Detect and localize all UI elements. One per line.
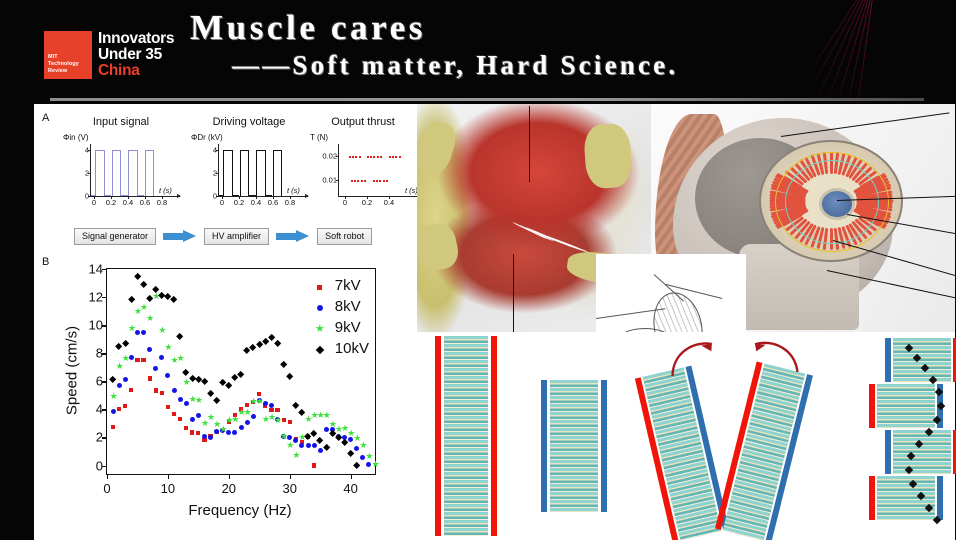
actuator-edge-blue — [541, 380, 547, 512]
chart-output-thrust-ylabel: T (N) — [310, 133, 328, 142]
scatter-datapoint: ★ — [256, 398, 263, 405]
soft-actuator-strip — [435, 336, 497, 536]
waveform-segment — [104, 150, 105, 196]
legend-item: 10kV — [309, 338, 369, 359]
scatter-ytick-label: 4 — [96, 402, 103, 417]
legend-marker-icon: ★ — [309, 319, 331, 337]
scatter-datapoint — [170, 295, 178, 303]
scatter-datapoint — [128, 295, 136, 303]
scatter-datapoint — [153, 366, 158, 371]
soft-actuator-diagrams — [417, 332, 955, 540]
soft-actuator-strip — [885, 430, 956, 474]
scatter-datapoint — [135, 358, 139, 362]
scatter-datapoint — [178, 397, 183, 402]
scatter-datapoint — [129, 388, 133, 392]
title-block: Muscle cares ——Soft matter, Hard Science… — [190, 8, 930, 83]
scatter-datapoint — [109, 376, 117, 384]
scatter-datapoint — [141, 330, 146, 335]
bone-shape — [417, 118, 460, 178]
soft-actuator-strip — [869, 476, 943, 520]
scatter-xtick-label: 30 — [282, 481, 296, 496]
chart-driving-voltage-title: Driving voltage — [190, 116, 308, 128]
actuator-edge-blue — [601, 380, 607, 512]
xtick-label: 0 — [92, 198, 96, 207]
ytick-label: 0 — [213, 192, 217, 201]
xtick-label: 0.2 — [106, 198, 116, 207]
thrust-datapoint — [364, 180, 366, 182]
logo-wordmark: Innovators Under 35 China — [92, 31, 174, 79]
waveform-segment — [248, 150, 249, 196]
thrust-datapoint — [395, 156, 397, 158]
waveform-segment — [223, 150, 224, 196]
waveform-segment — [240, 150, 249, 151]
soft-actuator-strip — [541, 380, 607, 512]
scatter-datapoint — [172, 388, 177, 393]
ytick-label: 0.02 — [322, 152, 337, 161]
scatter-ytick-label: 2 — [96, 430, 103, 445]
thrust-datapoint — [380, 156, 382, 158]
cross-section-fiber-ellipse — [759, 140, 903, 262]
waveform-segment — [120, 150, 121, 196]
thrust-datapoint — [399, 156, 401, 158]
ytick-label: 0 — [85, 192, 89, 201]
mit-technology-review-logo: MIT Technology Review Innovators Under 3… — [44, 31, 174, 79]
thrust-datapoint — [392, 156, 394, 158]
thrust-datapoint — [361, 180, 363, 182]
scatter-datapoint — [160, 391, 164, 395]
scatter-datapoint — [134, 273, 142, 281]
scatter-datapoint — [184, 426, 188, 430]
waveform-segment — [128, 150, 129, 196]
scatter-datapoint — [117, 407, 121, 411]
scatter-datapoint — [299, 443, 304, 448]
scatter-legend: 7kV8kV★9kV10kV — [309, 275, 369, 359]
scatter-datapoint: ★ — [116, 363, 123, 370]
scatter-datapoint — [196, 413, 201, 418]
actuator-core — [877, 476, 935, 520]
legend-item: 8kV — [309, 296, 369, 317]
chart-input-signal-xlabel: t (s) — [159, 186, 172, 195]
xtick-label: 0.8 — [285, 198, 295, 207]
logo-mark-line3: Review — [48, 68, 89, 75]
actuator-edge-blue — [885, 338, 891, 382]
scatter-xtick-label: 20 — [222, 481, 236, 496]
actuator-core — [893, 430, 951, 474]
scatter-datapoint — [166, 405, 170, 409]
scatter-datapoint — [347, 450, 355, 458]
chart-output-thrust: Output thrust T (N) 0.010.0200.20.4 t (s… — [304, 116, 422, 220]
scatter-datapoint — [159, 355, 164, 360]
scatter-datapoint: ★ — [158, 327, 165, 334]
waveform-segment — [145, 150, 154, 151]
waveform-segment — [128, 150, 137, 151]
waveform-segment — [153, 150, 154, 196]
thrust-datapoint — [370, 156, 372, 158]
flow-step-soft-robot[interactable]: Soft robot — [317, 228, 372, 245]
scatter-ytick-label: 6 — [96, 374, 103, 389]
scatter-plot-area: 7kV8kV★9kV10kV 02468101214010203040★★★★★… — [106, 268, 376, 475]
xtick-label: 0.6 — [140, 198, 150, 207]
waveform-segment — [219, 195, 223, 196]
scatter-datapoint — [306, 443, 311, 448]
scatter-datapoint — [140, 281, 148, 289]
scatter-datapoint — [232, 430, 237, 435]
muscle-fiber-line — [568, 245, 589, 253]
waveform-segment — [145, 150, 146, 196]
waveform-segment — [256, 150, 257, 196]
scatter-datapoint — [292, 402, 300, 410]
actuator-core — [444, 336, 488, 536]
logo-mark-line1: MIT — [48, 54, 89, 61]
scatter-datapoint: ★ — [128, 325, 135, 332]
flow-arrow-2-icon — [276, 231, 310, 242]
chart-driving-voltage-plot: 02400.20.40.60.8 — [218, 144, 295, 197]
thrust-datapoint — [352, 156, 354, 158]
waveform-segment — [112, 150, 121, 151]
scatter-datapoint: ★ — [274, 417, 281, 424]
scatter-datapoint: ★ — [323, 412, 330, 419]
waveform-segment — [120, 195, 128, 196]
soft-actuator-strip — [715, 362, 813, 540]
waveform-segment — [137, 195, 145, 196]
scatter-ytick-label: 10 — [89, 318, 103, 333]
scatter-datapoint: ★ — [140, 304, 147, 311]
soft-actuator-strip — [885, 338, 956, 382]
thrust-datapoint — [355, 156, 357, 158]
thrust-datapoint — [351, 180, 353, 182]
chart-output-thrust-xlabel: t (s) — [405, 186, 418, 195]
scatter-datapoint — [310, 429, 318, 437]
scatter-datapoint — [239, 425, 244, 430]
waveform-segment — [232, 150, 233, 196]
ytick-label: 2 — [85, 169, 89, 178]
scatter-datapoint — [111, 425, 115, 429]
scatter-datapoint — [245, 420, 250, 425]
logo-mark-line2: Technology — [48, 61, 89, 68]
xtick-label: 0 — [343, 198, 347, 207]
ytick-label: 4 — [85, 146, 89, 155]
scatter-datapoint — [202, 434, 207, 439]
actuator-edge-red — [869, 476, 875, 520]
chart-input-signal-plot: 02400.20.40.60.8 — [90, 144, 167, 197]
scatter-xtick — [290, 474, 291, 479]
waveform-segment — [104, 195, 112, 196]
scatter-datapoint: ★ — [359, 442, 366, 449]
scatter-datapoint: ★ — [122, 355, 129, 362]
scatter-datapoint — [172, 412, 176, 416]
scatter-ytick-label: 14 — [89, 262, 103, 277]
legend-marker-icon — [309, 277, 331, 295]
chart-driving-voltage: Driving voltage ΦDr (kV) 02400.20.40.60.… — [190, 116, 308, 220]
scatter-datapoint — [123, 404, 127, 408]
waveform-segment — [273, 150, 274, 196]
scatter-datapoint — [123, 377, 128, 382]
panel-b-letter: B — [42, 256, 49, 268]
flow-step-hv-amplifier[interactable]: HV amplifier — [204, 228, 269, 245]
waveform-segment — [240, 150, 241, 196]
scatter-datapoint — [207, 390, 215, 398]
bone-shape — [417, 220, 461, 273]
waveform-segment — [91, 195, 95, 196]
scatter-datapoint: ★ — [286, 442, 293, 449]
legend-label: 7kV — [335, 277, 361, 294]
scatter-ytick-label: 8 — [96, 346, 103, 361]
scatter-datapoint — [353, 462, 361, 470]
legend-label: 8kV — [335, 298, 361, 315]
logo-line-under35: Under 35 — [98, 47, 174, 63]
scatter-datapoint: ★ — [195, 397, 202, 404]
ytick-label: 2 — [213, 169, 217, 178]
scatter-datapoint — [225, 382, 233, 390]
waveform-segment — [95, 150, 104, 151]
chart-output-thrust-title: Output thrust — [304, 116, 422, 128]
scatter-datapoint — [280, 361, 288, 369]
ytick-label: 4 — [213, 146, 217, 155]
waveform-segment — [256, 150, 265, 151]
thrust-datapoint — [376, 180, 378, 182]
scatter-datapoint — [341, 439, 349, 447]
figure-b: B 7kV8kV★9kV10kV 02468101214010203040★★★… — [40, 252, 414, 536]
actuator-edge-blue — [885, 430, 891, 474]
content-panel: A Input signal Φin (V) 02400.20.40.60.8 … — [34, 104, 921, 540]
scatter-datapoint: ★ — [183, 379, 190, 386]
scatter-xtick-label: 0 — [103, 481, 110, 496]
header-divider — [50, 98, 924, 101]
xtick-label: 0.8 — [157, 198, 167, 207]
legend-label: 9kV — [335, 319, 361, 336]
scatter-datapoint — [182, 369, 190, 377]
scatter-datapoint: ★ — [146, 315, 153, 322]
figure-a: A Input signal Φin (V) 02400.20.40.60.8 … — [40, 108, 414, 248]
thrust-datapoint — [389, 156, 391, 158]
thrust-datapoint — [349, 156, 351, 158]
leader-line — [529, 106, 530, 182]
thrust-datapoint — [386, 180, 388, 182]
waveform-segment — [248, 195, 256, 196]
scatter-datapoint — [178, 417, 182, 421]
leader-line — [513, 254, 514, 332]
chart-output-thrust-plot: 0.010.0200.20.4 — [338, 144, 411, 197]
waveform-segment — [281, 150, 282, 196]
actuator-core — [550, 380, 598, 512]
scatter-datapoint — [275, 408, 279, 412]
scatter-datapoint: ★ — [164, 344, 171, 351]
xtick-label: 0.4 — [123, 198, 133, 207]
chart-input-signal-title: Input signal — [62, 116, 180, 128]
chart-input-signal-xaxis-arrow — [166, 196, 180, 197]
thrust-datapoint — [377, 156, 379, 158]
flow-diagram: Signal generator HV amplifier Soft robot — [74, 226, 414, 246]
scatter-datapoint — [316, 437, 324, 445]
xtick-label: 0.2 — [234, 198, 244, 207]
scatter-yaxis-label: Speed (cm/s) — [64, 291, 81, 451]
chart-input-signal: Input signal Φin (V) 02400.20.40.60.8 t … — [62, 116, 180, 220]
waveform-segment — [232, 195, 240, 196]
thrust-datapoint — [354, 180, 356, 182]
scatter-xtick-label: 10 — [161, 481, 175, 496]
logo-mark: MIT Technology Review — [44, 31, 92, 79]
waveform-segment — [137, 150, 138, 196]
scatter-datapoint: ★ — [177, 355, 184, 362]
legend-marker-icon — [309, 340, 331, 358]
scatter-datapoint — [202, 438, 206, 442]
waveform-segment — [265, 150, 266, 196]
scatter-datapoint — [312, 443, 317, 448]
thrust-datapoint — [379, 180, 381, 182]
xtick-label: 0.6 — [268, 198, 278, 207]
logo-line-china: China — [98, 63, 174, 79]
actuator-edge-red — [869, 384, 875, 428]
scatter-xtick — [229, 474, 230, 479]
ytick-label: 0.01 — [322, 176, 337, 185]
waveform-segment — [273, 150, 282, 151]
actuator-core — [893, 338, 951, 382]
page-title: Muscle cares — [190, 8, 930, 48]
scatter-datapoint: ★ — [372, 461, 379, 468]
scatter-xtick — [107, 474, 108, 479]
scatter-datapoint: ★ — [219, 426, 226, 433]
scatter-ytick-label: 12 — [89, 290, 103, 305]
scatter-datapoint — [318, 448, 323, 453]
scatter-datapoint — [165, 373, 170, 378]
waveform-segment — [112, 150, 113, 196]
xtick-label: 0 — [220, 198, 224, 207]
chart-input-signal-ylabel: Φin (V) — [63, 133, 89, 142]
scatter-datapoint — [111, 409, 116, 414]
logo-line-innovators: Innovators — [98, 31, 174, 47]
waveform-segment — [265, 195, 273, 196]
waveform-segment — [95, 150, 96, 196]
scatter-datapoint — [147, 347, 152, 352]
chart-driving-voltage-ylabel: ΦDr (kV) — [191, 133, 223, 142]
scatter-ytick-label: 0 — [96, 458, 103, 473]
scatter-datapoint: ★ — [244, 409, 251, 416]
waveform-segment — [223, 150, 232, 151]
scatter-datapoint: ★ — [110, 393, 117, 400]
scatter-datapoint — [190, 417, 195, 422]
soft-actuator-strip — [869, 384, 943, 428]
scatter-datapoint — [154, 388, 158, 392]
xtick-label: 0.4 — [384, 198, 394, 207]
scatter-datapoint — [190, 430, 194, 434]
scatter-datapoint — [286, 373, 294, 381]
scatter-datapoint — [176, 333, 184, 341]
scatter-xtick — [168, 474, 169, 479]
legend-marker-icon — [309, 298, 331, 316]
slide: MIT Technology Review Innovators Under 3… — [0, 0, 956, 540]
scatter-xtick-label: 40 — [343, 481, 357, 496]
legend-label: 10kV — [335, 340, 369, 357]
soft-actuator-strip — [635, 366, 729, 540]
chart-driving-voltage-xlabel: t (s) — [287, 186, 300, 195]
xtick-label: 0.4 — [251, 198, 261, 207]
scatter-xaxis-label: Frequency (Hz) — [106, 502, 374, 519]
fiber-ring — [785, 160, 879, 244]
scatter-datapoint — [196, 431, 200, 435]
scatter-datapoint — [226, 430, 231, 435]
legend-item: ★9kV — [309, 317, 369, 338]
scatter-datapoint — [288, 420, 292, 424]
actuator-edge-blue — [937, 476, 943, 520]
actuator-edge-red — [491, 336, 497, 536]
scatter-datapoint — [237, 370, 245, 378]
thrust-datapoint — [373, 180, 375, 182]
thrust-datapoint — [383, 180, 385, 182]
thrust-datapoint — [367, 156, 369, 158]
thrust-datapoint — [357, 180, 359, 182]
thrust-datapoint — [373, 156, 375, 158]
scatter-datapoint — [312, 463, 316, 467]
scatter-datapoint: ★ — [292, 452, 299, 459]
flow-arrow-1-icon — [163, 231, 197, 242]
scatter-datapoint — [322, 444, 330, 452]
flow-step-signal-generator[interactable]: Signal generator — [74, 228, 156, 245]
scatter-datapoint — [213, 397, 221, 405]
thrust-datapoint — [359, 156, 361, 158]
scatter-datapoint — [141, 358, 145, 362]
scatter-datapoint — [335, 434, 343, 442]
scatter-datapoint — [282, 418, 286, 422]
legend-item: 7kV — [309, 275, 369, 296]
actuator-core — [877, 384, 935, 428]
bone-shape — [583, 122, 633, 189]
page-subtitle: ——Soft matter, Hard Science. — [190, 48, 930, 83]
panel-a-letter: A — [42, 112, 49, 124]
scatter-xtick — [351, 474, 352, 479]
scatter-datapoint — [117, 383, 122, 388]
xtick-label: 0.2 — [362, 198, 372, 207]
scatter-datapoint — [274, 340, 282, 348]
actuator-edge-red — [435, 336, 441, 536]
scatter-datapoint — [148, 376, 152, 380]
scatter-datapoint — [208, 435, 213, 440]
